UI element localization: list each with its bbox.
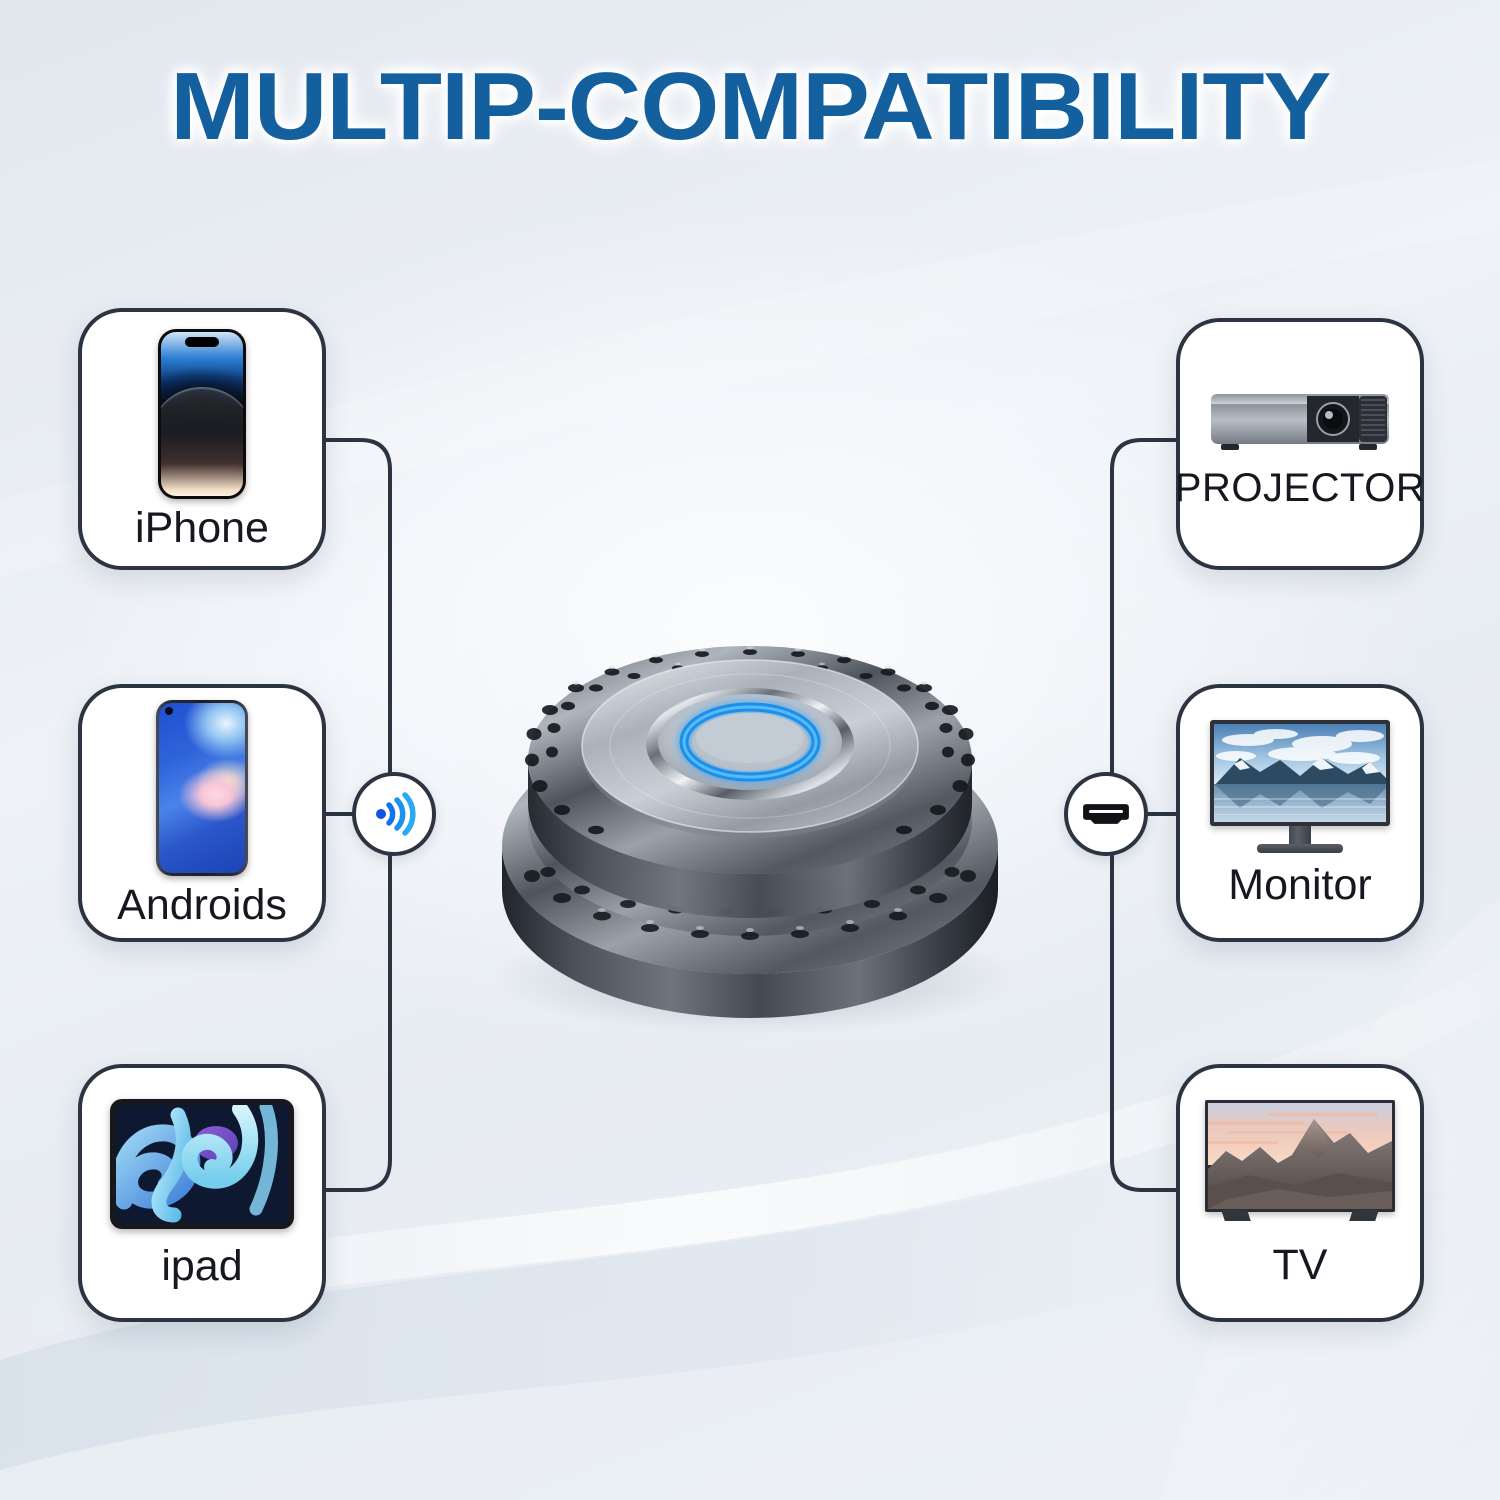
output-card-projector[interactable]: PROJECTOR [1176,318,1424,570]
wifi-badge[interactable] [352,772,436,856]
hdmi-badge[interactable] [1064,772,1148,856]
hdmi-port-icon [1078,799,1134,829]
source-card-label: ipad [161,1245,242,1288]
tv-icon [1205,1100,1395,1222]
ipad-icon [110,1099,294,1229]
output-card-label: PROJECTOR [1175,468,1425,508]
output-card-label: Monitor [1228,864,1371,907]
source-card-android[interactable]: Androids [78,684,326,942]
output-card-label: TV [1273,1244,1328,1287]
iphone-icon [158,329,246,499]
android-phone-icon [156,700,248,876]
source-card-ipad[interactable]: ipad [78,1064,326,1322]
infographic-canvas: MULTIP-COMPATIBILITY iPhone Androids [0,0,1500,1500]
output-card-tv[interactable]: TV [1176,1064,1424,1322]
page-title: MULTIP-COMPATIBILITY [170,52,1330,162]
page-title-wrap: MULTIP-COMPATIBILITY [0,52,1500,162]
source-card-iphone[interactable]: iPhone [78,308,326,570]
wifi-icon [370,790,418,838]
source-card-label: Androids [117,884,287,927]
projector-icon [1207,380,1393,458]
wireless-display-dongle [462,560,1038,1040]
monitor-icon [1210,720,1390,854]
source-card-label: iPhone [135,507,269,550]
output-card-monitor[interactable]: Monitor [1176,684,1424,942]
